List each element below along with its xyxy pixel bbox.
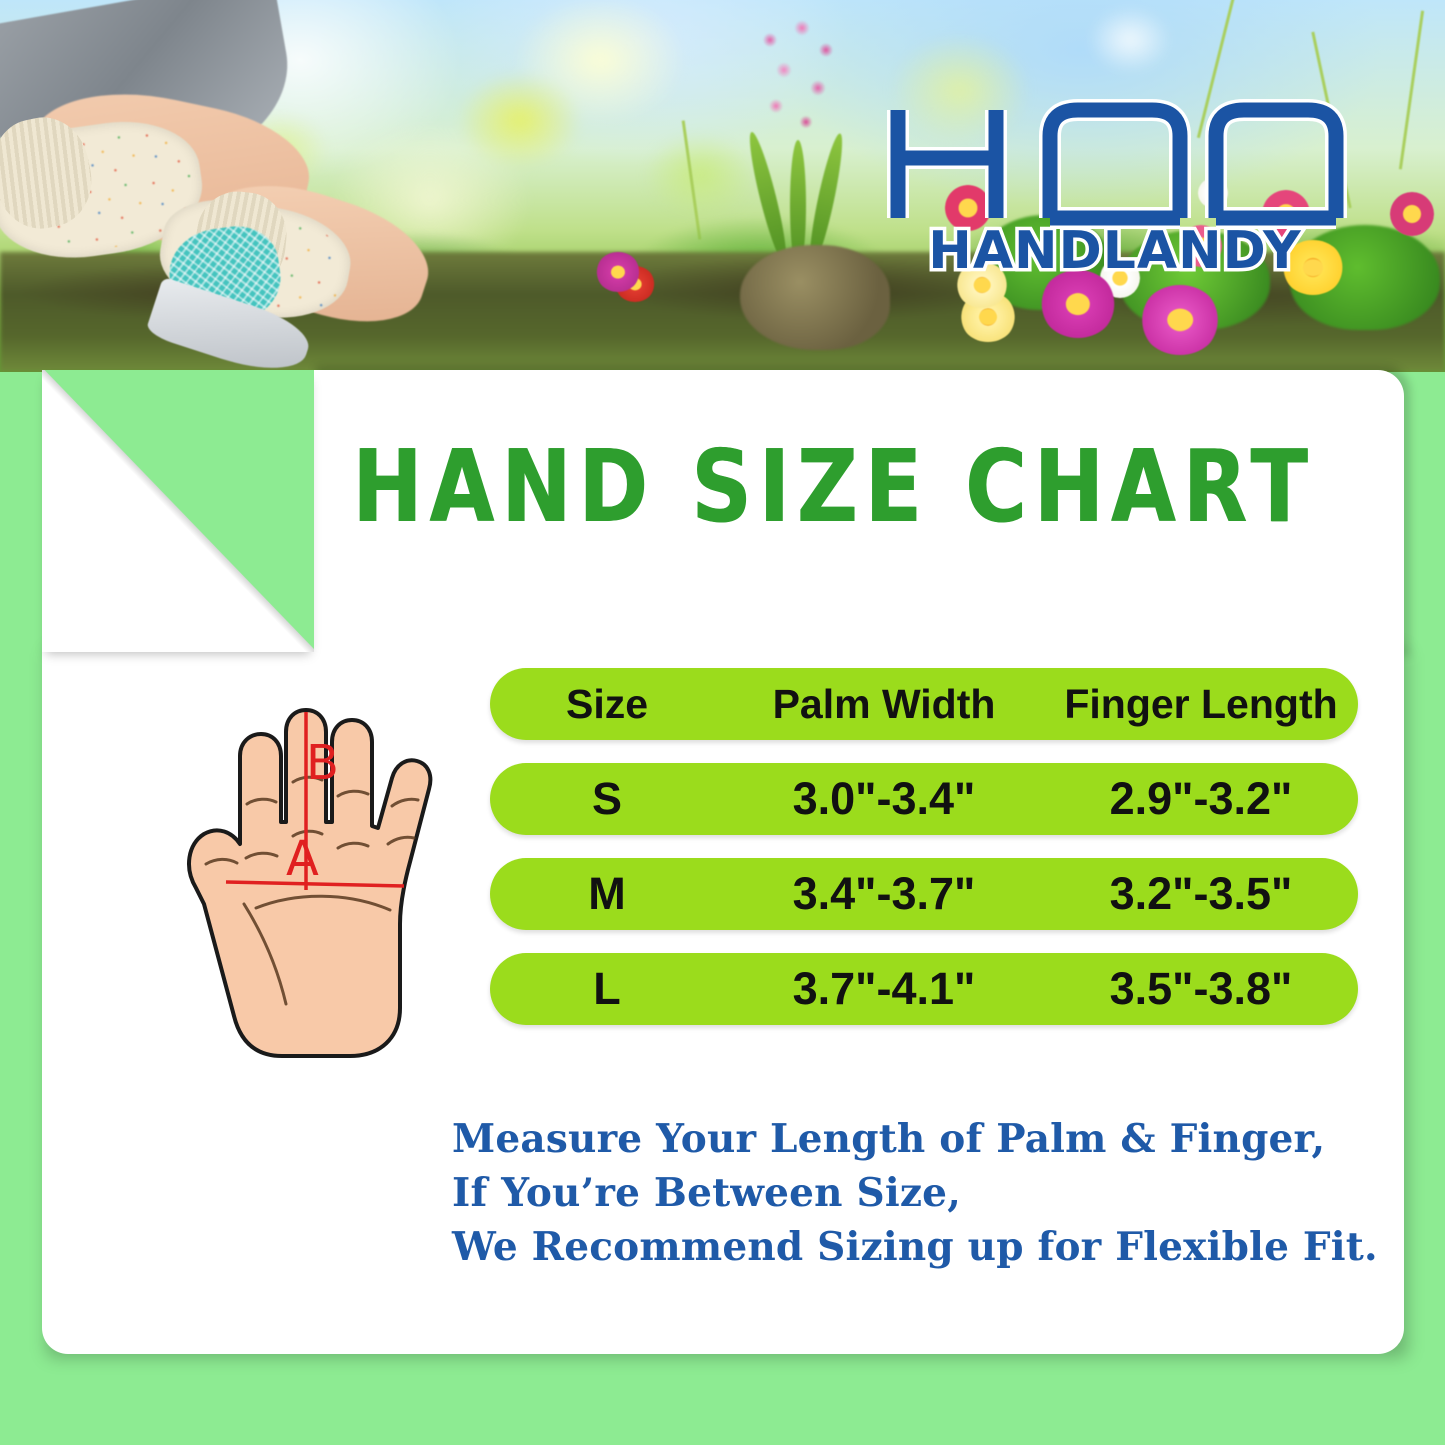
- cell-palm-width: 3.4"-3.7": [724, 868, 1044, 920]
- cell-finger-length: 2.9"-3.2": [1044, 773, 1358, 825]
- sizing-note: Measure Your Length of Palm & Finger, If…: [452, 1112, 1372, 1274]
- measurement-label-b: B: [306, 735, 339, 791]
- size-chart-table: Size Palm Width Finger Length S 3.0"-3.4…: [490, 668, 1358, 1048]
- note-line-1: Measure Your Length of Palm & Finger,: [452, 1112, 1372, 1166]
- cell-palm-width: 3.0"-3.4": [724, 773, 1044, 825]
- card-folded-corner: [42, 370, 314, 652]
- magenta-primrose: [596, 252, 640, 292]
- table-row: M 3.4"-3.7" 3.2"-3.5": [490, 858, 1358, 930]
- measurement-label-a: A: [286, 831, 319, 887]
- note-line-3: We Recommend Sizing up for Flexible Fit.: [452, 1220, 1372, 1274]
- note-line-2: If You’re Between Size,: [452, 1166, 1372, 1220]
- cell-palm-width: 3.7"-4.1": [724, 963, 1044, 1015]
- column-header-finger-length: Finger Length: [1044, 681, 1358, 728]
- daisy-flower: [1390, 192, 1434, 236]
- page-title: HAND SIZE CHART: [352, 429, 1382, 546]
- brand-name-text: HANDLANDY: [928, 221, 1302, 276]
- table-row: L 3.7"-4.1" 3.5"-3.8": [490, 953, 1358, 1025]
- cell-size: M: [490, 868, 724, 920]
- cell-finger-length: 3.2"-3.5": [1044, 868, 1358, 920]
- brand-logo: HANDLANDY: [880, 96, 1350, 276]
- magenta-primrose: [1040, 270, 1116, 338]
- magenta-primrose: [1140, 285, 1220, 355]
- table-header-row: Size Palm Width Finger Length: [490, 668, 1358, 740]
- table-row: S 3.0"-3.4" 2.9"-3.2": [490, 763, 1358, 835]
- hero-banner: HANDLANDY: [0, 0, 1445, 372]
- column-header-size: Size: [490, 681, 724, 728]
- hyacinth-flower: [740, 10, 860, 155]
- root-ball: [740, 245, 890, 350]
- cell-size: S: [490, 773, 724, 825]
- column-header-palm-width: Palm Width: [724, 681, 1044, 728]
- cell-size: L: [490, 963, 724, 1015]
- cell-finger-length: 3.5"-3.8": [1044, 963, 1358, 1015]
- page-root: HANDLANDY HAND SIZE CHART: [0, 0, 1445, 1445]
